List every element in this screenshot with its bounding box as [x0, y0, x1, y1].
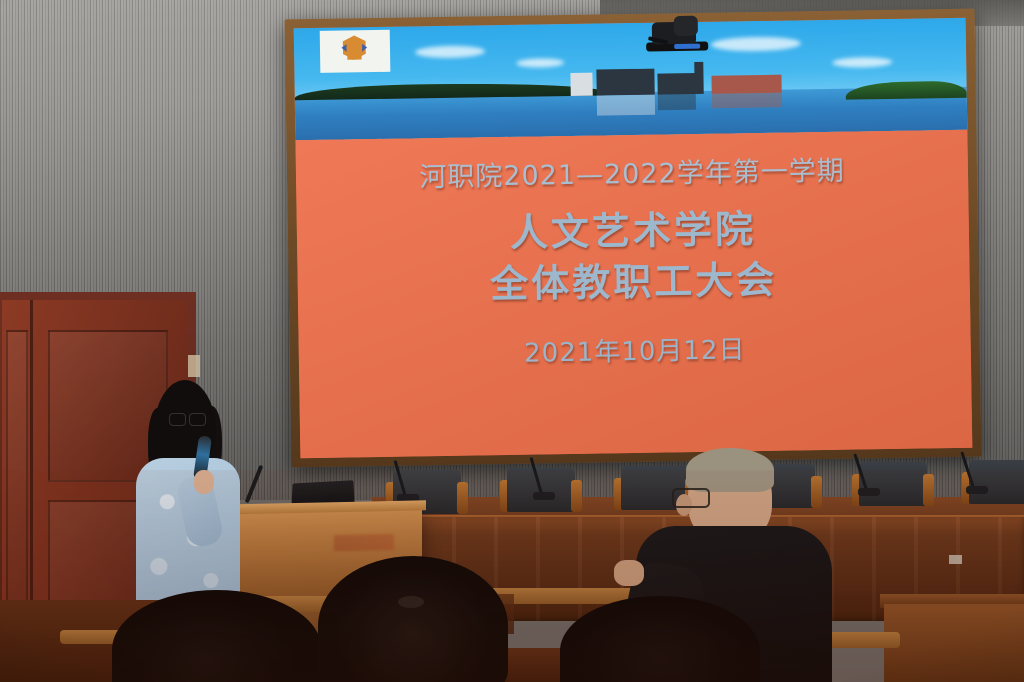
hair-clip [398, 596, 424, 608]
led-screen-assembly[interactable]: 河职院2021—2022学年第一学期 人文艺术学院 全体教职工大会 2021年1… [285, 9, 982, 468]
light-switch[interactable] [188, 355, 200, 377]
building [570, 73, 592, 96]
chair-arm [923, 474, 934, 506]
eyeglasses-left [169, 413, 186, 426]
cloud [516, 58, 564, 68]
chair-back [969, 460, 1024, 504]
building-reflection [597, 94, 655, 115]
microphone-base [533, 492, 555, 500]
chair-arm [571, 480, 582, 512]
building [711, 74, 781, 93]
screenshot-root: 河职院2021—2022学年第一学期 人文艺术学院 全体教职工大会 2021年1… [0, 0, 1024, 682]
microphone-base [858, 488, 880, 496]
projector-head [674, 16, 698, 36]
building-reflection [711, 92, 781, 108]
camera-projector [646, 15, 709, 56]
led-screen[interactable]: 河职院2021—2022学年第一学期 人文艺术学院 全体教职工大会 2021年1… [294, 18, 973, 459]
eyeglasses-right [189, 413, 206, 426]
tower [694, 62, 703, 93]
building [597, 68, 655, 95]
building-reflection [658, 94, 696, 110]
institution-logo [319, 30, 390, 72]
attendee-hair [686, 448, 774, 492]
speaker-hand [194, 470, 214, 494]
projector-led [674, 44, 700, 49]
chair-arm [457, 482, 468, 514]
attendee-hand [614, 560, 644, 586]
podium-emblem [334, 534, 394, 551]
microphone-base [966, 486, 988, 494]
side-table [884, 604, 1024, 682]
attendee-eyeglasses [672, 488, 710, 508]
building [657, 73, 695, 94]
dais-plate [949, 555, 962, 564]
campus-panorama [294, 18, 968, 140]
chair-back [859, 462, 927, 506]
title-board: 河职院2021—2022学年第一学期 人文艺术学院 全体教职工大会 2021年1… [295, 130, 972, 459]
